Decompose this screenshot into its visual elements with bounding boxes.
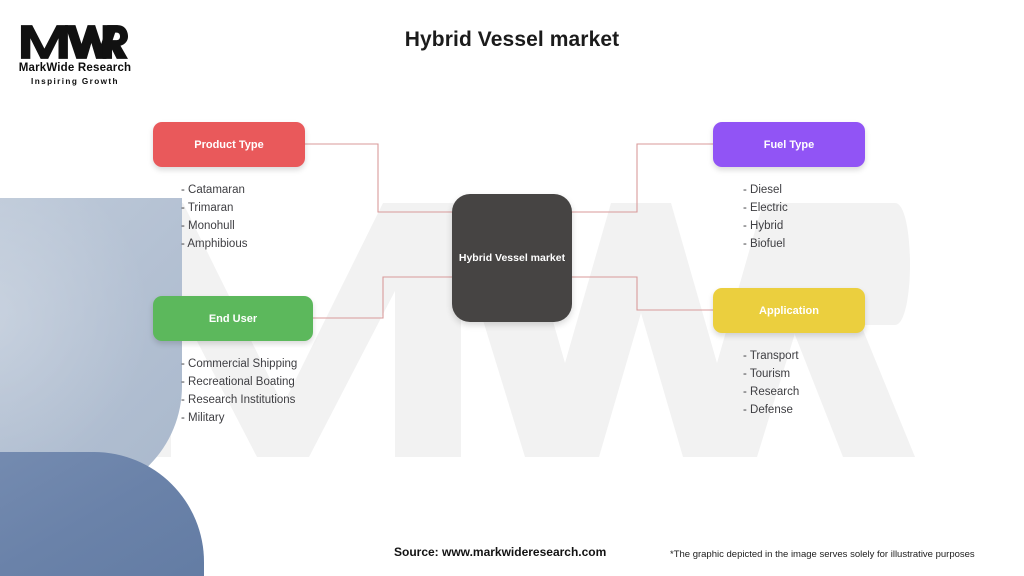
brand-name: MarkWide Research [16, 62, 134, 75]
brand-tagline: Inspiring Growth [16, 77, 134, 86]
footer-disclaimer: *The graphic depicted in the image serve… [670, 549, 975, 560]
list-item: - Military [181, 409, 313, 427]
category-items-application: - Transport - Tourism - Research - Defen… [713, 347, 865, 419]
page-title: Hybrid Vessel market [0, 28, 1024, 52]
category-box-fuel-type[interactable]: Fuel Type [713, 122, 865, 167]
list-item: - Transport [743, 347, 865, 365]
category-box-product-type[interactable]: Product Type [153, 122, 305, 167]
list-item: - Biofuel [743, 235, 865, 253]
category-box-application[interactable]: Application [713, 288, 865, 333]
list-item: - Hybrid [743, 217, 865, 235]
group-end-user: End User - Commercial Shipping - Recreat… [153, 296, 313, 427]
group-application: Application - Transport - Tourism - Rese… [713, 288, 865, 419]
group-product-type: Product Type - Catamaran - Trimaran - Mo… [153, 122, 305, 253]
category-box-end-user[interactable]: End User [153, 296, 313, 341]
list-item: - Recreational Boating [181, 373, 313, 391]
list-item: - Amphibious [181, 235, 305, 253]
list-item: - Diesel [743, 181, 865, 199]
category-items-fuel-type: - Diesel - Electric - Hybrid - Biofuel [713, 181, 865, 253]
category-items-end-user: - Commercial Shipping - Recreational Boa… [153, 355, 313, 427]
category-items-product-type: - Catamaran - Trimaran - Monohull - Amph… [153, 181, 305, 253]
list-item: - Defense [743, 401, 865, 419]
list-item: - Monohull [181, 217, 305, 235]
list-item: - Research [743, 383, 865, 401]
list-item: - Research Institutions [181, 391, 313, 409]
infographic-canvas: MarkWide Research Inspiring Growth Hybri… [0, 0, 1024, 576]
group-fuel-type: Fuel Type - Diesel - Electric - Hybrid -… [713, 122, 865, 253]
list-item: - Catamaran [181, 181, 305, 199]
list-item: - Electric [743, 199, 865, 217]
decorative-shape-dark [0, 452, 204, 576]
center-node: Hybrid Vessel market [452, 194, 572, 322]
list-item: - Tourism [743, 365, 865, 383]
list-item: - Trimaran [181, 199, 305, 217]
list-item: - Commercial Shipping [181, 355, 313, 373]
footer-source: Source: www.markwideresearch.com [394, 545, 606, 559]
